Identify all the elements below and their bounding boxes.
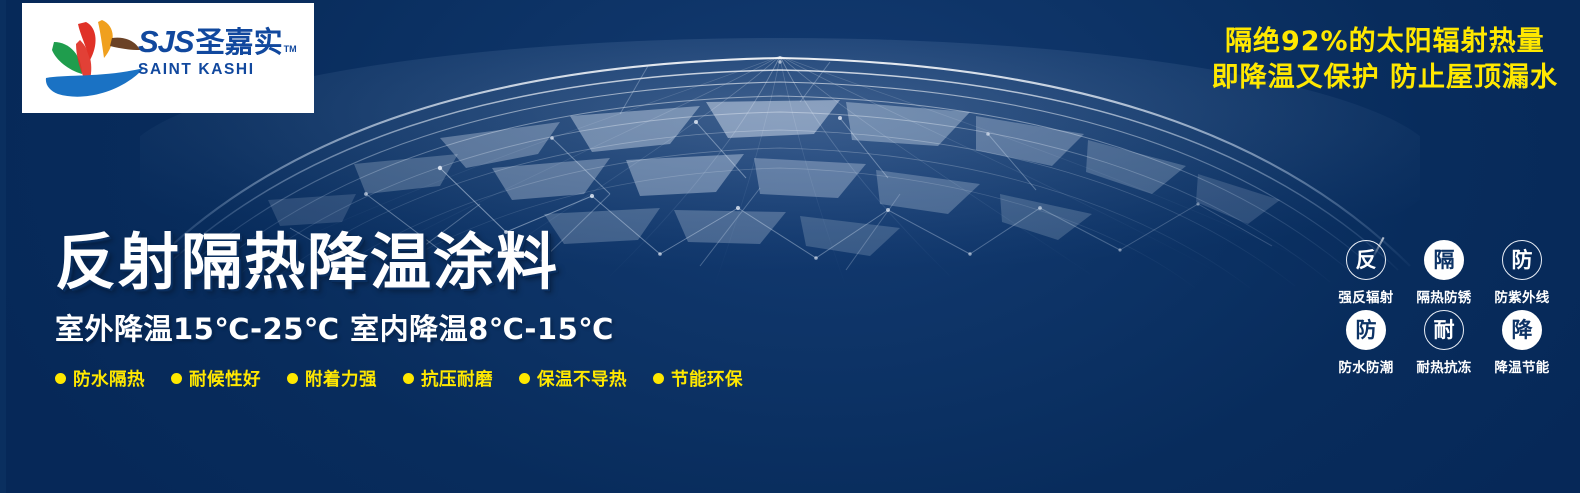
left-edge-strip [0,0,6,493]
list-item: 节能环保 [653,366,743,391]
claim-line-1: 隔绝92%的太阳辐射热量 [1212,24,1558,60]
feature-label: 保温不导热 [537,366,627,391]
list-item: 抗压耐磨 [403,366,493,391]
bullet-dot-icon [287,373,298,384]
list-item: 附着力强 [287,366,377,391]
main-copy-block: 反射隔热降温涂料 室外降温15℃-25℃ 室内降温8℃-15℃ 防水隔热 耐候性… [55,232,743,391]
waterproof-badge-icon: 防 [1346,310,1386,350]
benefit-label: 隔热防锈 [1416,286,1471,306]
insulate-badge-icon: 隔 [1424,240,1464,280]
cooling-badge-icon: 降 [1502,310,1542,350]
feature-bullet-list: 防水隔热 耐候性好 附着力强 抗压耐磨 保温不导热 节能环保 [55,366,743,391]
list-item: 防水隔热 [55,366,145,391]
bullet-dot-icon [55,373,66,384]
benefit-label: 强反辐射 [1338,286,1393,306]
bullet-dot-icon [519,373,530,384]
product-headline: 反射隔热降温涂料 [55,232,743,293]
bullet-dot-icon [653,373,664,384]
claim-line-2: 即降温又保护 防止屋顶漏水 [1212,60,1558,96]
durability-badge-icon: 耐 [1424,310,1464,350]
product-subheadline: 室外降温15℃-25℃ 室内降温8℃-15℃ [55,306,743,348]
top-right-claim: 隔绝92%的太阳辐射热量 即降温又保护 防止屋顶漏水 [1212,24,1558,95]
feature-label: 附着力强 [305,366,377,391]
benefit-item-energy-saving: 降 降温节能 [1486,310,1558,376]
feature-label: 耐候性好 [189,366,261,391]
benefit-item-strong-reflection: 反 强反辐射 [1330,240,1402,306]
benefit-label: 耐热抗冻 [1416,356,1471,376]
logo-swoosh-icon [40,16,150,102]
promo-banner: SJS 圣嘉实 TM SAINT KASHI 隔绝92%的太阳辐射热量 即降温又… [0,0,1580,493]
benefit-label: 防紫外线 [1494,286,1549,306]
benefit-item-uv-protection: 防 防紫外线 [1486,240,1558,306]
uv-shield-badge-icon: 防 [1502,240,1542,280]
benefit-label: 防水防潮 [1338,356,1393,376]
logo-chinese-name: 圣嘉实 [196,28,283,57]
list-item: 耐候性好 [171,366,261,391]
feature-label: 节能环保 [671,366,743,391]
benefit-icon-grid: 反 强反辐射 隔 隔热防锈 防 防紫外线 防 防水防潮 耐 耐热抗冻 降 降温节… [1330,240,1558,376]
logo-english-name: SAINT KASHI [138,61,306,79]
benefit-item-insulation-rustproof: 隔 隔热防锈 [1408,240,1480,306]
bullet-dot-icon [171,373,182,384]
benefit-item-heat-frost-resistant: 耐 耐热抗冻 [1408,310,1480,376]
benefit-label: 降温节能 [1494,356,1549,376]
logo-trademark: TM [284,44,297,54]
benefit-item-waterproof: 防 防水防潮 [1330,310,1402,376]
company-logo[interactable]: SJS 圣嘉实 TM SAINT KASHI [22,3,314,113]
feature-label: 防水隔热 [73,366,145,391]
feature-label: 抗压耐磨 [421,366,493,391]
logo-initials: SJS [138,26,194,57]
list-item: 保温不导热 [519,366,627,391]
bullet-dot-icon [403,373,414,384]
